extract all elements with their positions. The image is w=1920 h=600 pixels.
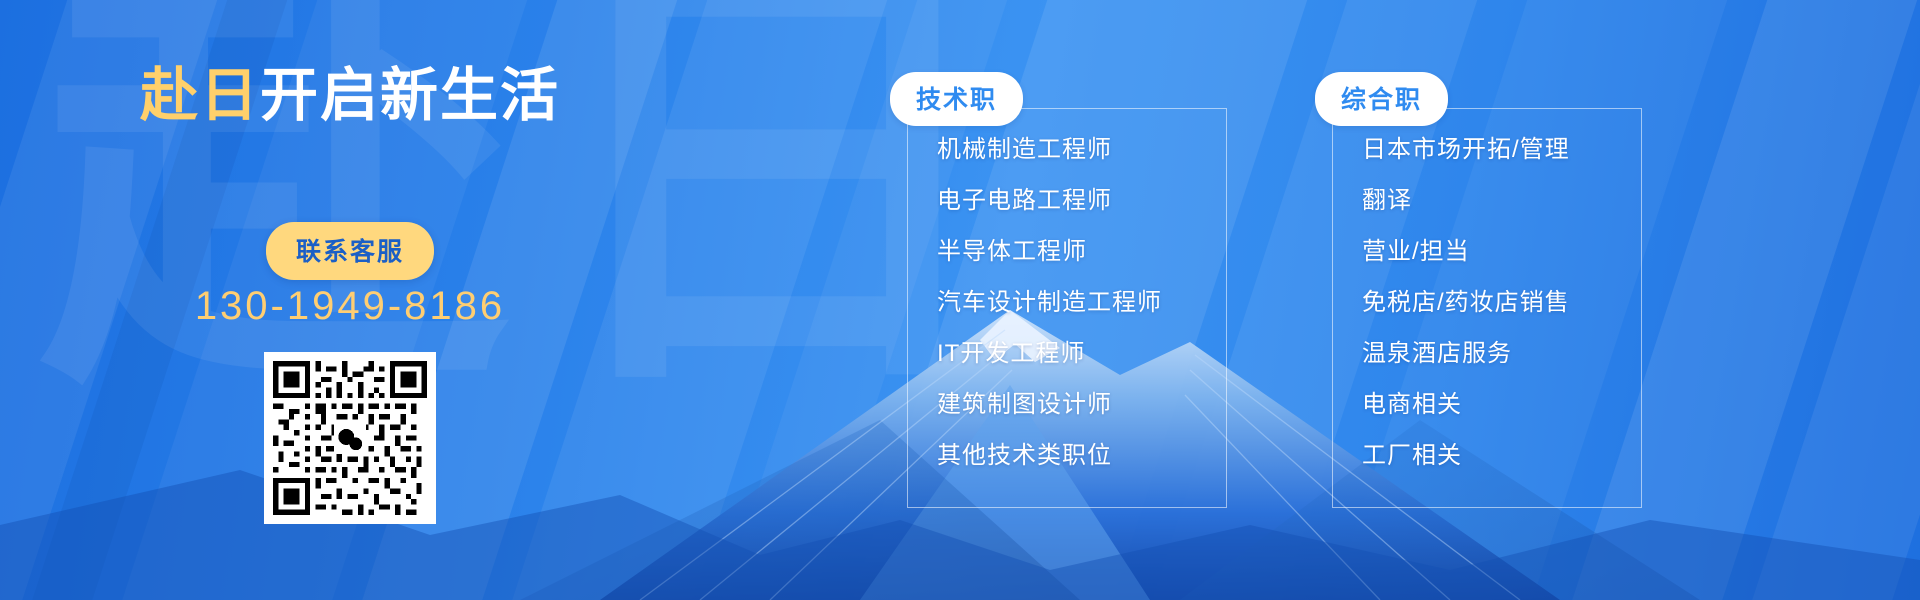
headline-highlight: 赴日 (140, 63, 260, 128)
list-item[interactable]: 其他技术类职位 (937, 444, 1162, 468)
phone-number[interactable]: 130-1949-8186 (0, 284, 700, 329)
wechat-qr-code[interactable] (264, 352, 436, 524)
list-item[interactable]: 半导体工程师 (937, 240, 1162, 264)
qr-code-image (273, 361, 427, 515)
headline-rest: 开启新生活 (260, 63, 560, 128)
list-item[interactable]: 日本市场开拓/管理 (1362, 138, 1570, 162)
promo-banner: 赴日 赴日开启新生活 (0, 0, 1920, 600)
list-item[interactable]: 免税店/药妆店销售 (1362, 291, 1570, 315)
list-item[interactable]: 营业/担当 (1362, 240, 1570, 264)
general-job-list: 日本市场开拓/管理 翻译 营业/担当 免税店/药妆店销售 温泉酒店服务 电商相关… (1362, 138, 1570, 495)
list-item[interactable]: 工厂相关 (1362, 444, 1570, 468)
list-item[interactable]: IT开发工程师 (937, 342, 1162, 366)
general-badge: 综合职 (1315, 72, 1448, 126)
list-item[interactable]: 温泉酒店服务 (1362, 342, 1570, 366)
list-item[interactable]: 汽车设计制造工程师 (937, 291, 1162, 315)
list-item[interactable]: 电商相关 (1362, 393, 1570, 417)
list-item[interactable]: 翻译 (1362, 189, 1570, 213)
list-item[interactable]: 建筑制图设计师 (937, 393, 1162, 417)
page-title: 赴日开启新生活 (0, 48, 700, 132)
technical-job-list: 机械制造工程师 电子电路工程师 半导体工程师 汽车设计制造工程师 IT开发工程师… (937, 138, 1162, 495)
technical-badge: 技术职 (890, 72, 1023, 126)
contact-support-button[interactable]: 联系客服 (266, 222, 434, 280)
list-item[interactable]: 机械制造工程师 (937, 138, 1162, 162)
list-item[interactable]: 电子电路工程师 (937, 189, 1162, 213)
left-content-block: 赴日开启新生活 联系客服 130-1949-8186 (0, 0, 700, 600)
